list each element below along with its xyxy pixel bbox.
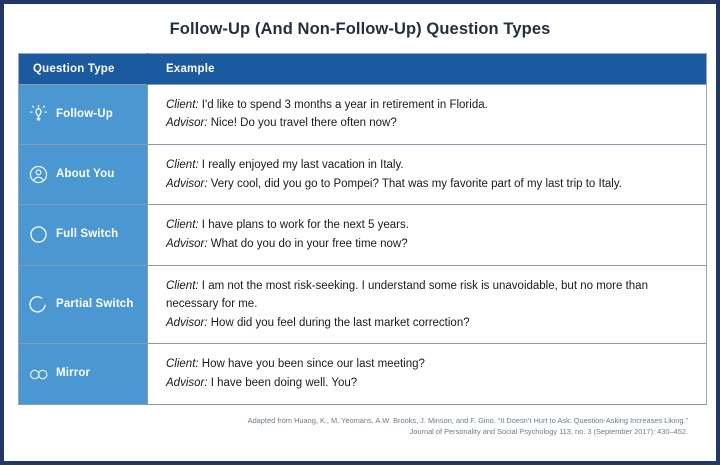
question-type-label: Mirror — [56, 367, 90, 381]
example-utterance: How have you been since our last meeting… — [199, 358, 425, 370]
question-type-cell: Partial Switch — [19, 265, 148, 344]
example-cell: Client: I really enjoyed my last vacatio… — [148, 145, 707, 205]
question-types-table: Question Type Example Follow-UpClient: I… — [18, 53, 707, 405]
question-type-inner: Full Switch — [28, 224, 139, 245]
example-line: Advisor: Very cool, did you go to Pompei… — [166, 175, 692, 194]
figure-frame: Follow-Up (And Non-Follow-Up) Question T… — [0, 0, 720, 465]
question-type-inner: Partial Switch — [28, 294, 139, 315]
example-line: Client: I have plans to work for the nex… — [166, 216, 692, 235]
table-row: Full SwitchClient: I have plans to work … — [19, 205, 707, 265]
example-utterance: I have plans to work for the next 5 year… — [199, 219, 409, 231]
figure-inner: Follow-Up (And Non-Follow-Up) Question T… — [4, 4, 716, 461]
table-header-row: Question Type Example — [19, 53, 707, 84]
example-line: Client: I am not the most risk-seeking. … — [166, 277, 692, 314]
example-utterance: How did you feel during the last market … — [208, 317, 470, 329]
example-line: Advisor: I have been doing well. You? — [166, 374, 692, 393]
example-speaker: Advisor: — [166, 178, 208, 190]
example-line: Advisor: How did you feel during the las… — [166, 314, 692, 333]
column-header-question-type: Question Type — [19, 53, 148, 84]
example-line: Client: How have you been since our last… — [166, 355, 692, 374]
example-utterance: I really enjoyed my last vacation in Ita… — [199, 159, 404, 171]
example-cell: Client: I'd like to spend 3 months a yea… — [148, 84, 707, 144]
lightbulb-icon — [28, 104, 49, 125]
column-header-example: Example — [148, 53, 707, 84]
example-speaker: Client: — [166, 159, 199, 171]
example-speaker: Client: — [166, 219, 199, 231]
question-type-inner: Follow-Up — [28, 104, 139, 125]
table-header: Question Type Example — [19, 53, 707, 84]
question-type-cell: Full Switch — [19, 205, 148, 265]
example-cell: Client: How have you been since our last… — [148, 344, 707, 404]
question-type-label: Partial Switch — [56, 298, 134, 312]
example-line: Advisor: What do you do in your free tim… — [166, 235, 692, 254]
example-cell: Client: I have plans to work for the nex… — [148, 205, 707, 265]
example-cell: Client: I am not the most risk-seeking. … — [148, 265, 707, 344]
example-speaker: Advisor: — [166, 377, 208, 389]
example-utterance: I'd like to spend 3 months a year in ret… — [199, 99, 488, 111]
example-line: Client: I'd like to spend 3 months a yea… — [166, 96, 692, 115]
table-row: MirrorClient: How have you been since ou… — [19, 344, 707, 404]
source-note: Adapted from Huang, K., M. Yeomans, A.W.… — [32, 415, 688, 438]
example-speaker: Advisor: — [166, 117, 208, 129]
example-speaker: Client: — [166, 358, 199, 370]
question-type-inner: About You — [28, 164, 139, 185]
partial-circle-icon — [28, 294, 49, 315]
example-line: Client: I really enjoyed my last vacatio… — [166, 156, 692, 175]
source-note-line-1: Adapted from Huang, K., M. Yeomans, A.W.… — [32, 415, 688, 426]
example-line: Advisor: Nice! Do you travel there often… — [166, 114, 692, 133]
question-type-cell: Follow-Up — [19, 84, 148, 144]
example-utterance: Very cool, did you go to Pompei? That wa… — [208, 178, 622, 190]
example-utterance: Nice! Do you travel there often now? — [208, 117, 397, 129]
table-row: About YouClient: I really enjoyed my las… — [19, 145, 707, 205]
example-utterance: I am not the most risk-seeking. I unders… — [166, 280, 648, 311]
page-title: Follow-Up (And Non-Follow-Up) Question T… — [18, 20, 702, 40]
person-circle-icon — [28, 164, 49, 185]
table-body: Follow-UpClient: I'd like to spend 3 mon… — [19, 84, 707, 404]
table-row: Partial SwitchClient: I am not the most … — [19, 265, 707, 344]
example-speaker: Client: — [166, 280, 199, 292]
question-type-label: Full Switch — [56, 228, 118, 242]
example-utterance: I have been doing well. You? — [208, 377, 358, 389]
example-speaker: Advisor: — [166, 317, 208, 329]
source-note-line-2: Journal of Personality and Social Psycho… — [32, 426, 688, 437]
question-type-cell: Mirror — [19, 344, 148, 404]
question-type-inner: Mirror — [28, 364, 139, 385]
full-circle-icon — [28, 224, 49, 245]
example-speaker: Client: — [166, 99, 199, 111]
question-type-cell: About You — [19, 145, 148, 205]
table-row: Follow-UpClient: I'd like to spend 3 mon… — [19, 84, 707, 144]
question-type-label: Follow-Up — [56, 108, 113, 122]
example-speaker: Advisor: — [166, 238, 208, 250]
example-utterance: What do you do in your free time now? — [208, 238, 408, 250]
question-type-label: About You — [56, 168, 114, 182]
two-circles-icon — [28, 364, 49, 385]
